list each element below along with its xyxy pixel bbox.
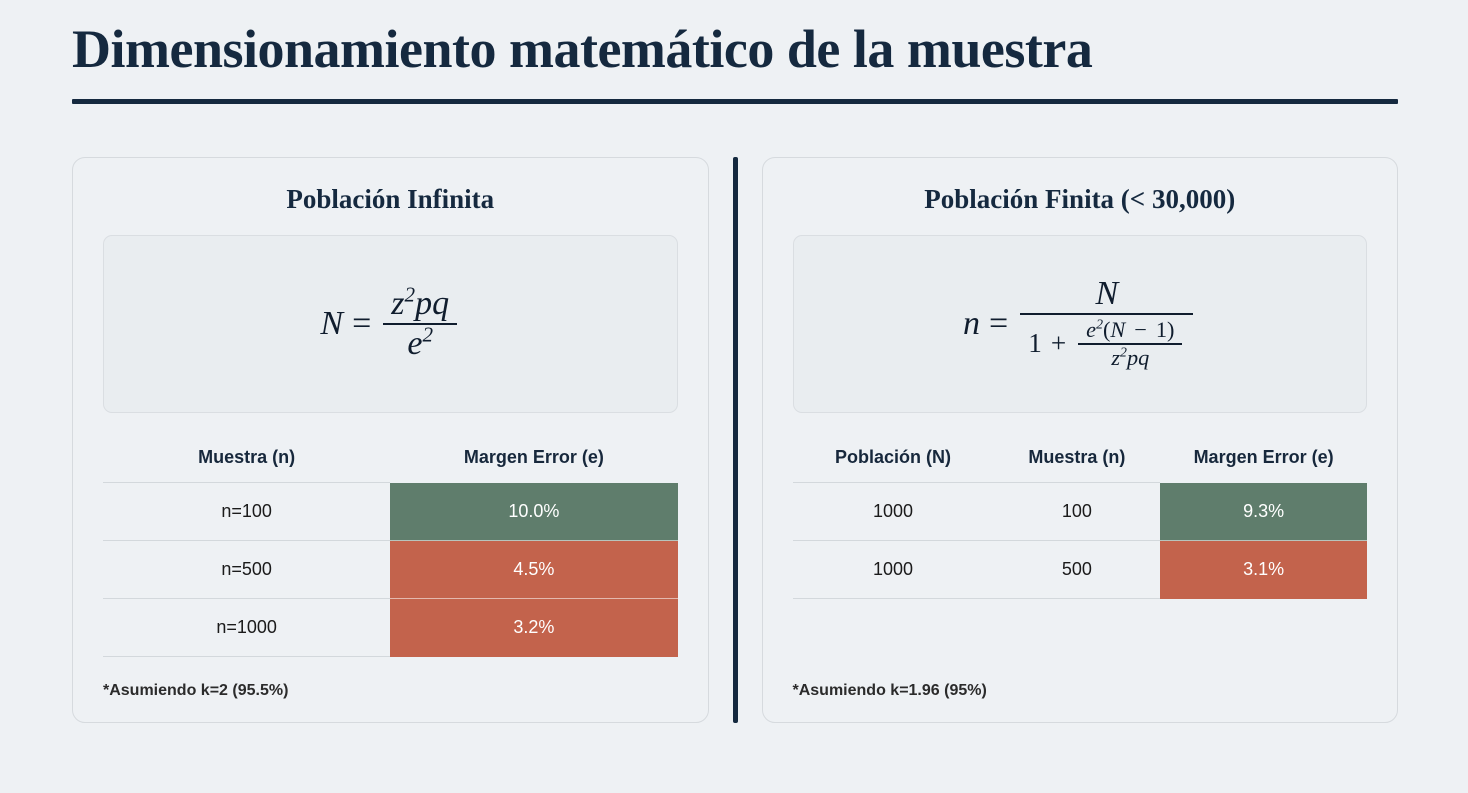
card-title-left: Población Infinita — [103, 184, 678, 215]
cell-margen-error: 9.3% — [1160, 483, 1367, 541]
math-p: p — [415, 285, 432, 322]
math-exponent-2: 2 — [1120, 345, 1127, 360]
math-z: z — [1111, 345, 1120, 370]
formula-lhs-N: N — [320, 307, 343, 341]
card-title-right: Población Finita (< 30,000) — [793, 184, 1368, 215]
column-header-margen-error: Margen Error (e) — [390, 441, 677, 483]
math-N: N — [1095, 275, 1118, 312]
cell-margen-error: 4.5% — [390, 541, 677, 599]
formula-finita: n = N 1 + — [963, 275, 1196, 374]
page-title: Dimensionamiento matemático de la muestr… — [72, 22, 1398, 77]
inner-numerator: e2(N−1) — [1078, 317, 1182, 343]
formula-equals: = — [989, 307, 1008, 341]
cards-container: Población Infinita N = z2pq e2 — [72, 157, 1398, 723]
cell-muestra: n=500 — [103, 541, 390, 599]
math-e: e — [407, 325, 422, 362]
math-exponent-2: 2 — [422, 323, 433, 347]
title-underline-rule — [72, 99, 1398, 104]
table-row: 1000 500 3.1% — [793, 541, 1368, 599]
cell-margen-error: 3.1% — [1160, 541, 1367, 599]
denominator-inline: 1 + e2(N−1) z2pq — [1028, 317, 1185, 372]
math-plus: + — [1051, 330, 1066, 357]
math-z: z — [391, 285, 404, 322]
card-poblacion-finita: Población Finita (< 30,000) n = N 1 + — [762, 157, 1399, 723]
vertical-divider — [733, 157, 738, 723]
fraction-denominator-expression: 1 + e2(N−1) z2pq — [1020, 315, 1193, 374]
table-header-row: Muestra (n) Margen Error (e) — [103, 441, 678, 483]
cell-poblacion: 1000 — [793, 541, 994, 599]
cell-muestra: n=1000 — [103, 599, 390, 657]
table-row: n=100 10.0% — [103, 483, 678, 541]
table-row: 1000 100 9.3% — [793, 483, 1368, 541]
card-poblacion-infinita: Población Infinita N = z2pq e2 — [72, 157, 709, 723]
cell-muestra: 500 — [994, 541, 1161, 599]
math-q: q — [432, 285, 449, 322]
math-one: 1 — [1156, 317, 1167, 342]
fraction-denominator: e2 — [399, 325, 441, 363]
math-e: e — [1086, 317, 1096, 342]
footnote-right: *Asumiendo k=1.96 (95%) — [793, 682, 1368, 722]
fraction-outer: N 1 + e2(N−1) — [1020, 275, 1193, 374]
fraction-numerator-N: N — [1087, 275, 1126, 313]
table-finita: Población (N) Muestra (n) Margen Error (… — [793, 441, 1368, 599]
math-N: N — [1110, 317, 1125, 342]
math-paren-close: ) — [1167, 317, 1174, 342]
fraction-zpq-over-e2: z2pq e2 — [383, 285, 457, 363]
math-p: p — [1127, 345, 1138, 370]
cell-margen-error: 10.0% — [390, 483, 677, 541]
formula-equals: = — [352, 307, 371, 341]
title-block: Dimensionamiento matemático de la muestr… — [72, 22, 1398, 104]
formula-box-infinita: N = z2pq e2 — [103, 235, 678, 413]
table-row: n=1000 3.2% — [103, 599, 678, 657]
slide: Dimensionamiento matemático de la muestr… — [0, 0, 1468, 793]
formula-infinita: N = z2pq e2 — [320, 285, 460, 363]
table-infinita: Muestra (n) Margen Error (e) n=100 10.0%… — [103, 441, 678, 657]
column-header-poblacion: Población (N) — [793, 441, 994, 483]
table-header-row: Población (N) Muestra (n) Margen Error (… — [793, 441, 1368, 483]
math-exponent-2: 2 — [405, 283, 416, 307]
column-header-muestra: Muestra (n) — [103, 441, 390, 483]
footnote-left: *Asumiendo k=2 (95.5%) — [103, 682, 678, 722]
column-header-margen-error: Margen Error (e) — [1160, 441, 1367, 483]
cell-poblacion: 1000 — [793, 483, 994, 541]
fraction-inner: e2(N−1) z2pq — [1078, 317, 1182, 372]
math-one: 1 — [1028, 330, 1042, 357]
cell-muestra: n=100 — [103, 483, 390, 541]
math-minus: − — [1134, 317, 1147, 342]
formula-box-finita: n = N 1 + — [793, 235, 1368, 413]
math-exponent-2: 2 — [1096, 316, 1103, 331]
cell-muestra: 100 — [994, 483, 1161, 541]
math-q: q — [1138, 345, 1149, 370]
formula-lhs-n: n — [963, 307, 980, 341]
fraction-numerator: z2pq — [383, 285, 457, 323]
table-row: n=500 4.5% — [103, 541, 678, 599]
column-header-muestra: Muestra (n) — [994, 441, 1161, 483]
inner-denominator: z2pq — [1103, 345, 1157, 371]
cell-margen-error: 3.2% — [390, 599, 677, 657]
